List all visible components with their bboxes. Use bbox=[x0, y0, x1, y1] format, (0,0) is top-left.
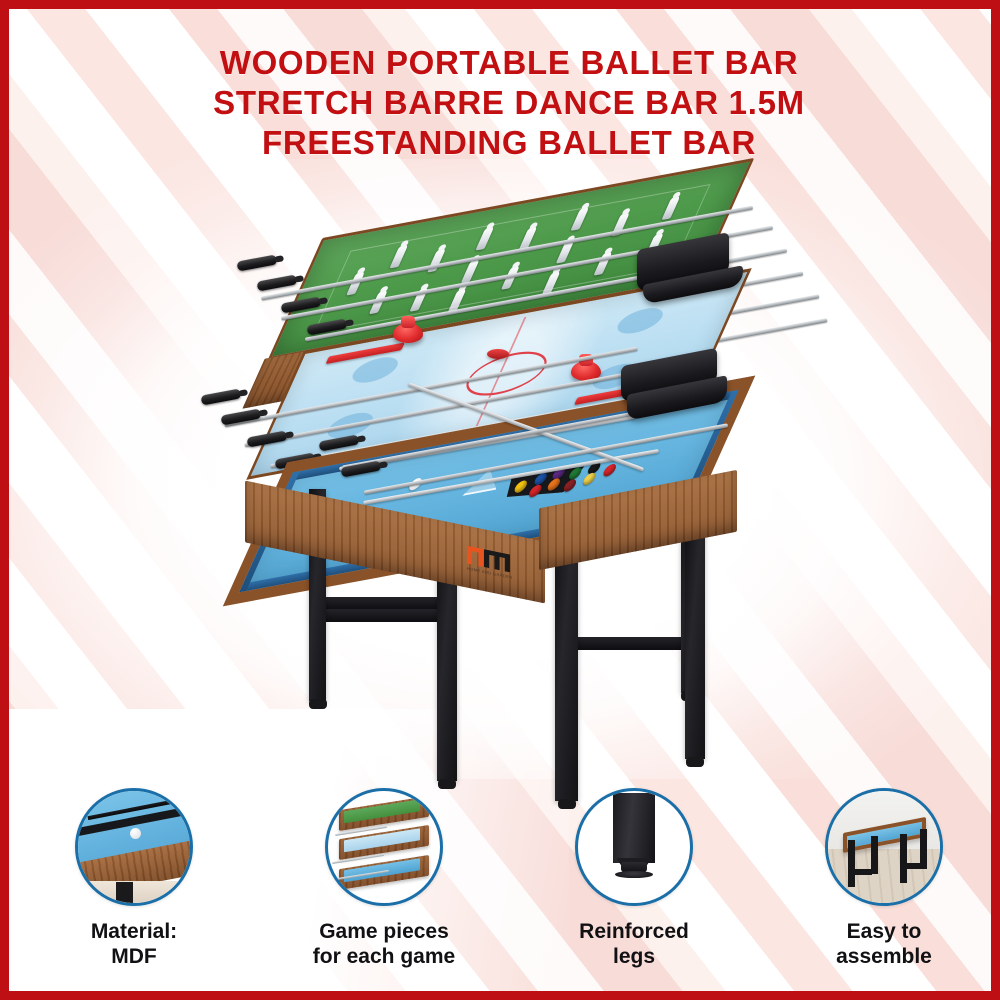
feature-label-line2: MDF bbox=[19, 944, 249, 969]
table-leg-icon bbox=[575, 788, 693, 906]
feature-label-line2: legs bbox=[519, 944, 749, 969]
pool-table-corner-icon bbox=[75, 788, 193, 906]
feature-label-line2: for each game bbox=[269, 944, 499, 969]
logo-letter-m bbox=[484, 549, 510, 572]
feature-label-line1: Reinforced bbox=[519, 919, 749, 944]
feature-strip: Material: MDF Game pieces for each game bbox=[9, 788, 1000, 969]
feature-label-line1: Material: bbox=[19, 919, 249, 944]
assembled-table-icon bbox=[825, 788, 943, 906]
feature-label-line1: Easy to bbox=[769, 919, 999, 944]
product-poster: WOODEN PORTABLE BALLET BAR STRETCH BARRE… bbox=[0, 0, 1000, 1000]
product-image: HOME AND GARDEN bbox=[9, 189, 1000, 789]
title-line-1: WOODEN PORTABLE BALLET BAR bbox=[9, 43, 1000, 83]
title-line-2: STRETCH BARRE DANCE BAR 1.5M bbox=[9, 83, 1000, 123]
air-hockey-pusher bbox=[393, 323, 423, 343]
air-hockey-faceoff-circle bbox=[348, 354, 403, 386]
feature-label-line1: Game pieces bbox=[269, 919, 499, 944]
table-leg-side-right bbox=[685, 523, 705, 759]
feature-easy-assemble: Easy to assemble bbox=[769, 788, 999, 969]
table-brace-right bbox=[575, 637, 697, 650]
logo-letter-n bbox=[467, 546, 483, 567]
table-brace-front bbox=[309, 609, 457, 622]
feature-material: Material: MDF bbox=[19, 788, 249, 969]
page-title: WOODEN PORTABLE BALLET BAR STRETCH BARRE… bbox=[9, 43, 1000, 163]
feature-game-pieces: Game pieces for each game bbox=[269, 788, 499, 969]
air-hockey-faceoff-circle bbox=[613, 305, 668, 337]
brand-logo: HOME AND GARDEN bbox=[467, 542, 513, 580]
feature-label-line2: assemble bbox=[769, 944, 999, 969]
air-hockey-puck bbox=[487, 349, 509, 359]
stacked-tables-icon bbox=[325, 788, 443, 906]
title-line-3: FREESTANDING BALLET BAR bbox=[9, 123, 1000, 163]
feature-reinforced-legs: Reinforced legs bbox=[519, 788, 749, 969]
